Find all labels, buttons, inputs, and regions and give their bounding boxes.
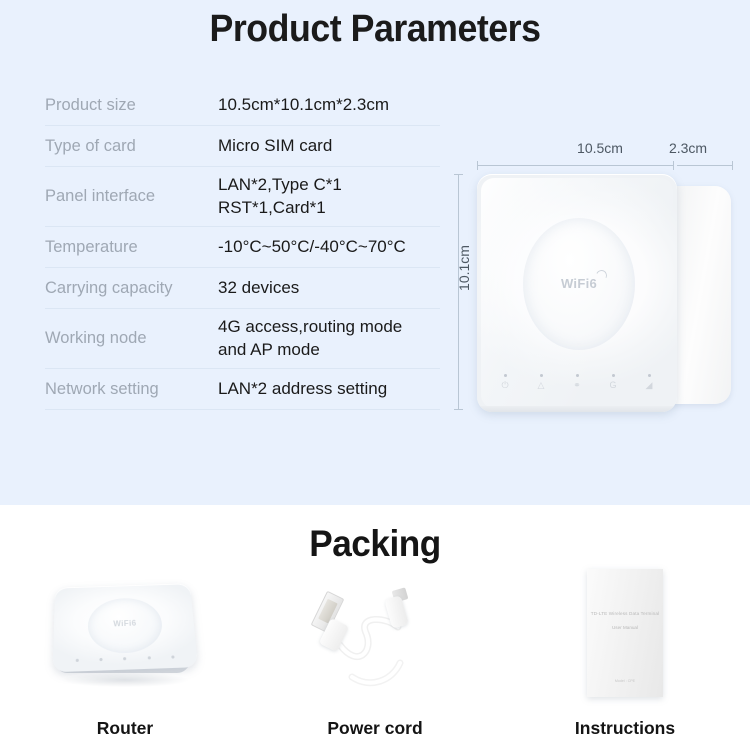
spec-label-working-node: Working node: [45, 328, 218, 349]
led-dot: [100, 658, 103, 661]
spec-label-temperature: Temperature: [45, 237, 218, 258]
spec-value-carrying-capacity: 32 devices: [218, 277, 440, 300]
wifi-icon: △: [530, 381, 552, 390]
lan-led: ⚭: [566, 374, 588, 390]
packing-section: Packing WiFi6: [0, 505, 750, 750]
dimension-line-depth: [677, 165, 732, 166]
power-icon: ⏻: [494, 381, 516, 390]
wifi6-brand-label: WiFi6: [88, 618, 162, 629]
spec-value-type-of-card: Micro SIM card: [218, 135, 440, 158]
led-dot: [147, 656, 150, 659]
dimension-label-depth: 2.3cm: [648, 140, 728, 156]
dimension-tick: [454, 409, 463, 410]
signal-icon: ◢: [638, 381, 660, 390]
manual-subtitle: User Manual: [587, 625, 663, 630]
power-led: ⏻: [494, 374, 516, 390]
led-dot: [540, 374, 543, 377]
spec-value-product-size: 10.5cm*10.1cm*2.3cm: [218, 94, 440, 117]
page-title: Product Parameters: [23, 8, 728, 51]
signal-led: ◢: [638, 374, 660, 390]
table-row: Carrying capacity 32 devices: [45, 268, 440, 309]
spec-label-type-of-card: Type of card: [45, 136, 218, 157]
mini-router-device: WiFi6: [50, 581, 200, 693]
table-row: Product size 10.5cm*10.1cm*2.3cm: [45, 85, 440, 126]
spec-value-temperature: -10°C~50°C/-40°C~70°C: [218, 236, 440, 259]
mini-logo-circle: WiFi6: [88, 597, 164, 654]
dimension-line-height: [458, 174, 459, 409]
led-dot: [612, 374, 615, 377]
spec-table: Product size 10.5cm*10.1cm*2.3cm Type of…: [45, 85, 440, 410]
packing-item-power-cord: Power cord: [250, 567, 500, 747]
manual-thumbnail: TD-LTE Wireless Data Terminal User Manua…: [500, 567, 750, 707]
router-logo-circle: WiFi6: [523, 218, 635, 350]
dimension-tick: [477, 161, 478, 170]
spec-value-network-setting: LAN*2 address setting: [218, 378, 440, 401]
router-led-row: ⏻ △ ⚭ G: [487, 374, 667, 390]
led-dot: [171, 655, 174, 658]
user-manual-booklet: TD-LTE Wireless Data Terminal User Manua…: [587, 569, 663, 697]
dimension-tick: [673, 161, 674, 170]
product-parameters-page: Product Parameters Product size 10.5cm*1…: [0, 0, 750, 750]
manual-title: TD-LTE Wireless Data Terminal: [587, 611, 663, 616]
led-dot: [124, 657, 127, 660]
table-row: Panel interface LAN*2,Type C*1 RST*1,Car…: [45, 167, 440, 227]
drop-shadow: [62, 673, 188, 687]
router-hero-image: 10.5cm 2.3cm 10.1cm WiFi6: [455, 140, 745, 440]
dimension-line-width: [477, 165, 673, 166]
spec-label-panel-interface: Panel interface: [45, 186, 218, 207]
lan-icon: ⚭: [566, 381, 588, 390]
wifi6-brand-label: WiFi6: [523, 276, 635, 291]
spec-label-network-setting: Network setting: [45, 379, 218, 400]
spec-label-product-size: Product size: [45, 95, 218, 116]
manual-model: Model : CPE: [587, 679, 663, 683]
packing-label-router: Router: [0, 718, 250, 739]
led-dot: [648, 374, 651, 377]
led-dot: [76, 659, 79, 662]
led-dot: [576, 374, 579, 377]
packing-label-instructions: Instructions: [500, 718, 750, 739]
dimension-tick: [454, 174, 463, 175]
mini-led-row: [65, 655, 184, 662]
router-front-face: WiFi6 ⏻ △ ⚭: [477, 174, 677, 412]
packing-item-router: WiFi6 Router: [0, 567, 250, 747]
wifi-led: △: [530, 374, 552, 390]
router-thumbnail: WiFi6: [0, 567, 250, 707]
mini-router-top: WiFi6: [53, 583, 198, 672]
packing-items: WiFi6 Router: [0, 567, 750, 747]
usb-cable-thumbnail: [250, 567, 500, 707]
spec-value-working-node: 4G access,routing mode and AP mode: [218, 316, 440, 362]
sim-icon: G: [602, 381, 624, 390]
table-row: Working node 4G access,routing mode and …: [45, 309, 440, 369]
spec-value-panel-interface: LAN*2,Type C*1 RST*1,Card*1: [218, 174, 440, 220]
packing-label-power-cord: Power cord: [250, 718, 500, 739]
led-dot: [504, 374, 507, 377]
packing-item-instructions: TD-LTE Wireless Data Terminal User Manua…: [500, 567, 750, 747]
table-row: Temperature -10°C~50°C/-40°C~70°C: [45, 227, 440, 268]
dimension-tick: [732, 161, 733, 170]
router-device: WiFi6 ⏻ △ ⚭: [477, 174, 735, 412]
router-bottom-edge: [479, 406, 677, 412]
sim-led: G: [602, 374, 624, 390]
packing-title: Packing: [19, 523, 732, 565]
spec-label-carrying-capacity: Carrying capacity: [45, 278, 218, 299]
table-row: Network setting LAN*2 address setting: [45, 369, 440, 410]
usb-cable: [300, 577, 450, 697]
table-row: Type of card Micro SIM card: [45, 126, 440, 167]
product-parameters-section: Product Parameters Product size 10.5cm*1…: [0, 0, 750, 505]
